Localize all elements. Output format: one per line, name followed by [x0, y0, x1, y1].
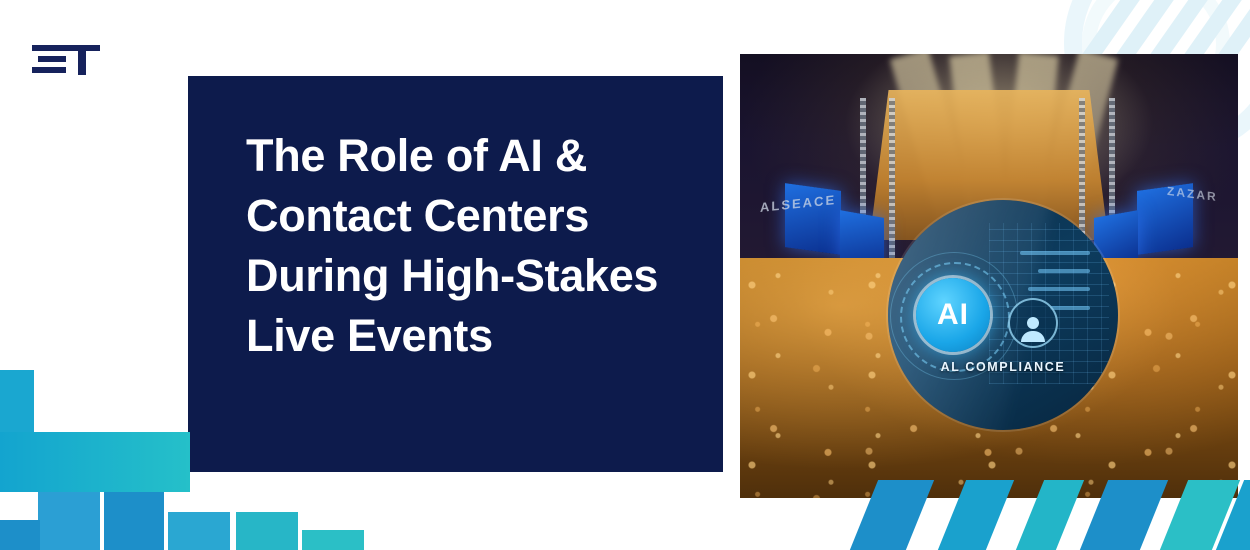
- decor-left-gradient-bar: [0, 432, 190, 492]
- brand-logo[interactable]: [30, 38, 110, 84]
- person-icon: [1027, 317, 1039, 329]
- decor-left-block: [0, 520, 40, 550]
- decor-left-bar: [0, 370, 34, 432]
- brand-logo-icon: [30, 38, 110, 84]
- banner-canvas: The Role of AI & Contact Centers During …: [0, 0, 1250, 550]
- decor-square: [38, 492, 100, 550]
- ai-badge: AI: [916, 278, 990, 352]
- decor-square: [104, 492, 164, 550]
- ai-inset-circle: AI AL COMPLIANCE: [888, 200, 1118, 430]
- decor-square: [302, 530, 364, 550]
- decor-square: [168, 512, 230, 550]
- ai-inset-caption: AL COMPLIANCE: [888, 360, 1118, 374]
- ai-badge-label: AI: [937, 298, 969, 332]
- decor-diagonal-stripes-bottom: [690, 480, 1250, 550]
- decor-square: [236, 512, 298, 550]
- title-panel: The Role of AI & Contact Centers During …: [188, 76, 723, 472]
- page-title: The Role of AI & Contact Centers During …: [188, 76, 723, 365]
- agent-avatar-icon: [1008, 298, 1058, 348]
